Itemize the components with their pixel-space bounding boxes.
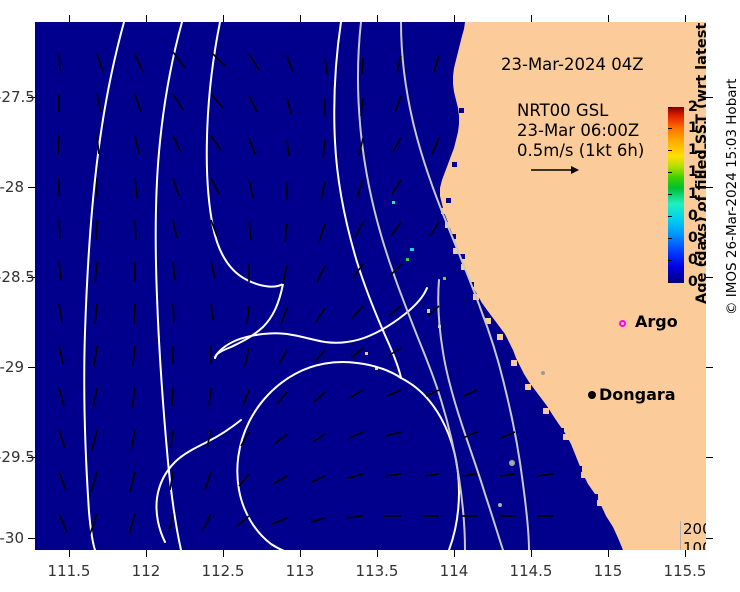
ytick-label-27-5: -27.5 <box>0 88 24 106</box>
dongara-site-label: Dongara <box>599 385 676 404</box>
vector-time-label: 23-Mar 06:00Z <box>517 121 644 141</box>
depth-legend-divider <box>680 521 681 550</box>
sst-age-map-figure: 23-Mar-2024 04Z NRT00 GSL 23-Mar 06:00Z … <box>0 0 740 592</box>
dongara-site-marker[interactable] <box>588 391 596 399</box>
xtick-label-111-5: 111.5 <box>48 562 91 580</box>
depth-legend-200m: 200m <box>683 520 706 539</box>
ytick-label-30: -30 <box>0 529 24 547</box>
xtick-label-115-5: 115.5 <box>664 562 707 580</box>
xtick-label-113-5: 113.5 <box>356 562 399 580</box>
colorbar-title: Age (days) of filled SST (wrt latest) <box>694 54 706 304</box>
ytick-label-28: -28 <box>0 178 24 196</box>
xtick-label-115: 115 <box>594 562 623 580</box>
xtick-label-114-5: 114.5 <box>510 562 553 580</box>
ytick-label-28-5: -28.5 <box>0 268 24 286</box>
ytick-label-29: -29 <box>0 358 24 376</box>
vector-scale-arrow-icon <box>529 162 589 178</box>
argo-legend-marker[interactable] <box>619 320 626 327</box>
xtick-label-114: 114 <box>440 562 469 580</box>
xtick-label-112: 112 <box>132 562 161 580</box>
colorbar-gradient <box>668 107 684 283</box>
credit-label: © IMOS 26-Mar-2024 15:03 Hobart <box>724 79 740 315</box>
depth-legend-1000m: 1000m <box>683 539 706 550</box>
map-plot-area[interactable]: 23-Mar-2024 04Z NRT00 GSL 23-Mar 06:00Z … <box>35 22 706 550</box>
argo-legend-label: Argo <box>635 312 678 331</box>
timestamp-label: 23-Mar-2024 04Z <box>501 55 644 74</box>
xtick-label-113: 113 <box>286 562 315 580</box>
vector-source-label: NRT00 GSL <box>517 101 644 121</box>
vector-legend: NRT00 GSL 23-Mar 06:00Z 0.5m/s (1kt 6h) <box>517 101 644 178</box>
colorbar[interactable]: 0 0.25 0.5 0.75 1 1.25 1.5 1.75 2 <box>668 107 684 283</box>
xtick-label-112-5: 112.5 <box>202 562 245 580</box>
ytick-label-29-5: -29.5 <box>0 448 24 466</box>
vector-scale-label: 0.5m/s (1kt 6h) <box>517 141 644 161</box>
depth-legend: 200m 1000m <box>683 520 706 550</box>
